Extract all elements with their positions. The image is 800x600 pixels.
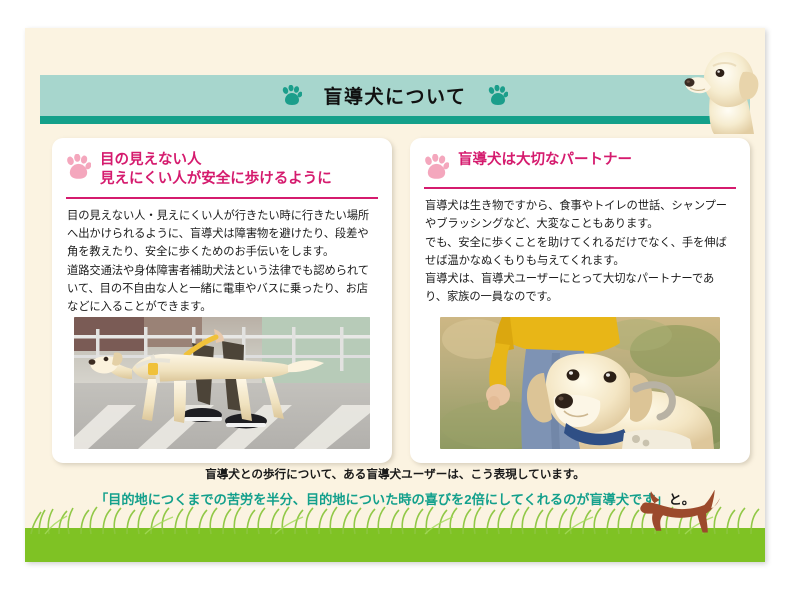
paw-print-icon [488, 85, 508, 106]
paw-print-icon [282, 85, 302, 106]
card-guide-dog-purpose: 目の見えない人 見えにくい人が安全に歩けるように 目の見えない人・見えにくい人が… [52, 138, 392, 463]
poster-panel: 盲導犬について [25, 28, 765, 562]
dog-silhouette-icon [639, 490, 725, 540]
caption-intro: 盲導犬との歩行について、ある盲導犬ユーザーは、こう表現しています。 [25, 466, 765, 482]
card-body-text: 目の見えない人・見えにくい人が行きたい時に行きたい場所へ出かけられるように、盲導… [52, 199, 392, 317]
card-header: 盲導犬は大切なパートナー [410, 138, 750, 180]
card-guide-dog-partner: 盲導犬は大切なパートナー 盲導犬は生き物ですから、食事やトイレの世話、シャンプー… [410, 138, 750, 463]
card-title: 盲導犬は大切なパートナー [458, 151, 632, 170]
guide-dog-portrait-photo [440, 317, 720, 449]
paw-print-icon [66, 154, 91, 180]
title-banner-rule [40, 116, 750, 124]
card-title: 目の見えない人 見えにくい人が安全に歩けるように [100, 151, 332, 190]
title-banner-content: 盲導犬について [40, 75, 750, 116]
screenshot-root: 盲導犬について [0, 0, 800, 600]
guide-dog-crosswalk-photo [74, 317, 370, 449]
card-body-text: 盲導犬は生き物ですから、食事やトイレの世話、シャンプーやブラッシングなど、大変な… [410, 189, 750, 307]
paw-print-icon [424, 154, 449, 180]
card-header: 目の見えない人 見えにくい人が安全に歩けるように [52, 138, 392, 190]
grass-band [25, 490, 765, 562]
poster-title: 盲導犬について [324, 82, 467, 109]
